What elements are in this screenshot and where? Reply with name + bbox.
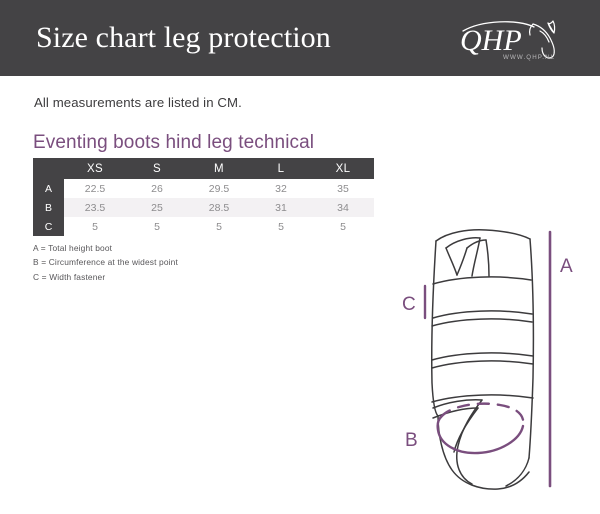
row-label-c: C [33, 217, 64, 236]
chart-title: Eventing boots hind leg technical [33, 132, 314, 154]
qhp-logo: QHP WWW.QHP.NL [460, 18, 580, 64]
boot-illustration: A C B [400, 218, 600, 503]
legend-item-a: A = Total height boot [33, 241, 178, 255]
logo-url-text: WWW.QHP.NL [503, 54, 555, 61]
legend-item-b: B = Circumference at the widest point [33, 255, 178, 269]
table-header-xs: XS [64, 158, 126, 179]
table-row: B 23.5 25 28.5 31 34 [33, 198, 374, 217]
cell-b-s: 25 [126, 198, 188, 217]
cell-a-m: 29.5 [188, 179, 250, 198]
cell-a-xl: 35 [312, 179, 374, 198]
eventing-boot-diagram: A C B [400, 218, 600, 503]
table-header-xl: XL [312, 158, 374, 179]
table-row: A 22.5 26 29.5 32 35 [33, 179, 374, 198]
measurement-note: All measurements are listed in CM. [34, 95, 242, 110]
table-header-m: M [188, 158, 250, 179]
svg-text:QHP: QHP [460, 24, 522, 57]
measure-label-b: B [405, 430, 418, 451]
legend-item-c: C = Width fastener [33, 270, 178, 284]
table-header-row: XS S M L XL [33, 158, 374, 179]
cell-c-xs: 5 [64, 217, 126, 236]
table-header-s: S [126, 158, 188, 179]
cell-a-l: 32 [250, 179, 312, 198]
size-chart-table: XS S M L XL A 22.5 26 29.5 32 35 B 23.5 … [33, 158, 374, 236]
cell-c-m: 5 [188, 217, 250, 236]
measure-label-a: A [560, 256, 573, 277]
table-row: C 5 5 5 5 5 [33, 217, 374, 236]
cell-c-xl: 5 [312, 217, 374, 236]
measure-label-c: C [402, 294, 416, 315]
row-label-a: A [33, 179, 64, 198]
cell-b-l: 31 [250, 198, 312, 217]
cell-b-xl: 34 [312, 198, 374, 217]
cell-b-xs: 23.5 [64, 198, 126, 217]
measure-line-a: A [550, 232, 573, 486]
cell-c-l: 5 [250, 217, 312, 236]
table-corner-cell [33, 158, 64, 179]
cell-b-m: 28.5 [188, 198, 250, 217]
table-header-l: L [250, 158, 312, 179]
measure-line-c: C [402, 286, 425, 318]
cell-a-xs: 22.5 [64, 179, 126, 198]
cell-c-s: 5 [126, 217, 188, 236]
cell-a-s: 26 [126, 179, 188, 198]
boot-outline [432, 230, 534, 489]
page-title: Size chart leg protection [36, 21, 331, 55]
measurement-legend: A = Total height boot B = Circumference … [33, 241, 178, 284]
page-header: Size chart leg protection QHP WWW.QHP.NL [0, 0, 600, 76]
row-label-b: B [33, 198, 64, 217]
